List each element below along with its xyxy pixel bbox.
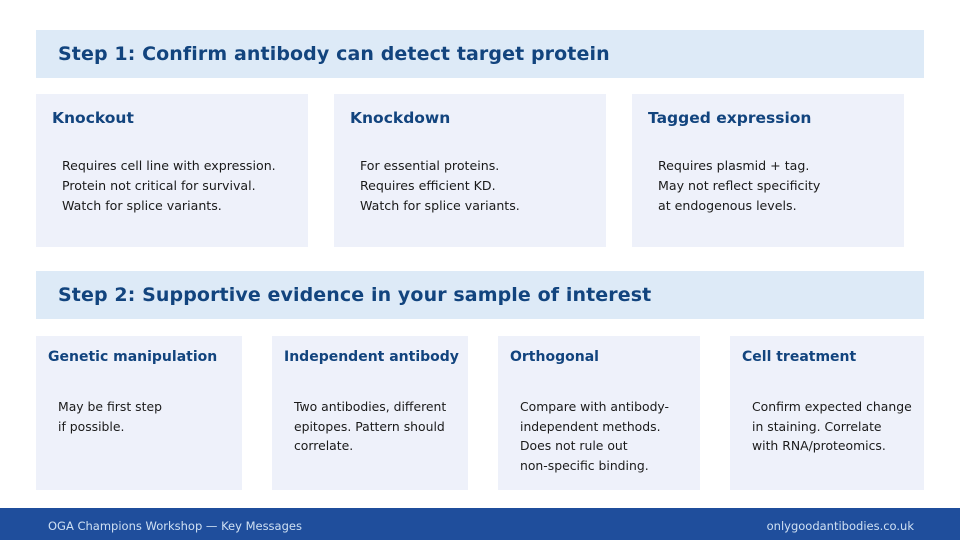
footer-left-text: OGA Champions Workshop — Key Messages [48, 519, 302, 533]
card-line: Compare with antibody- [520, 397, 669, 417]
card-line: Watch for splice variants. [62, 196, 276, 216]
card-line: May not reflect specificity [658, 176, 820, 196]
card-line: with RNA/proteomics. [752, 436, 912, 456]
card-title: Knockout [52, 109, 134, 127]
step-2-title: Step 2: Supportive evidence in your samp… [36, 284, 651, 306]
card-title: Orthogonal [510, 349, 599, 365]
card-body: For essential proteins. Requires efficie… [360, 156, 520, 216]
footer-right-url: onlygoodantibodies.co.uk [767, 519, 914, 533]
card-line: Requires efficient KD. [360, 176, 520, 196]
card-line: Does not rule out [520, 436, 669, 456]
card-cell-treatment: Cell treatment Confirm expected change i… [730, 336, 924, 490]
card-title: Knockdown [350, 109, 450, 127]
card-orthogonal: Orthogonal Compare with antibody- indepe… [498, 336, 700, 490]
step-1-header-bar: Step 1: Confirm antibody can detect targ… [36, 30, 924, 78]
slide: Step 1: Confirm antibody can detect targ… [0, 0, 960, 540]
card-line: Two antibodies, different [294, 397, 446, 417]
card-line: May be first step [58, 397, 162, 417]
card-title: Tagged expression [648, 109, 811, 127]
card-knockout: Knockout Requires cell line with express… [36, 94, 308, 247]
card-body: Requires cell line with expression. Prot… [62, 156, 276, 216]
card-line: independent methods. [520, 417, 669, 437]
card-line: epitopes. Pattern should [294, 417, 446, 437]
card-body: May be first step if possible. [58, 397, 162, 436]
card-line: Confirm expected change [752, 397, 912, 417]
card-tagged-expression: Tagged expression Requires plasmid + tag… [632, 94, 904, 247]
card-line: Protein not critical for survival. [62, 176, 276, 196]
card-title: Independent antibody [284, 349, 459, 365]
card-independent-antibody: Independent antibody Two antibodies, dif… [272, 336, 468, 490]
card-body: Requires plasmid + tag. May not reflect … [658, 156, 820, 216]
card-line: if possible. [58, 417, 162, 437]
card-genetic-manipulation: Genetic manipulation May be first step i… [36, 336, 242, 490]
card-body: Confirm expected change in staining. Cor… [752, 397, 912, 456]
step-1-title: Step 1: Confirm antibody can detect targ… [36, 43, 610, 65]
card-knockdown: Knockdown For essential proteins. Requir… [334, 94, 606, 247]
card-line: Watch for splice variants. [360, 196, 520, 216]
card-title: Genetic manipulation [48, 349, 217, 365]
card-line: at endogenous levels. [658, 196, 820, 216]
card-body: Compare with antibody- independent metho… [520, 397, 669, 475]
card-line: Requires cell line with expression. [62, 156, 276, 176]
card-line: correlate. [294, 436, 446, 456]
card-title: Cell treatment [742, 349, 856, 365]
card-line: non-specific binding. [520, 456, 669, 476]
card-line: in staining. Correlate [752, 417, 912, 437]
card-line: Requires plasmid + tag. [658, 156, 820, 176]
card-body: Two antibodies, different epitopes. Patt… [294, 397, 446, 456]
step-2-header-bar: Step 2: Supportive evidence in your samp… [36, 271, 924, 319]
card-line: For essential proteins. [360, 156, 520, 176]
